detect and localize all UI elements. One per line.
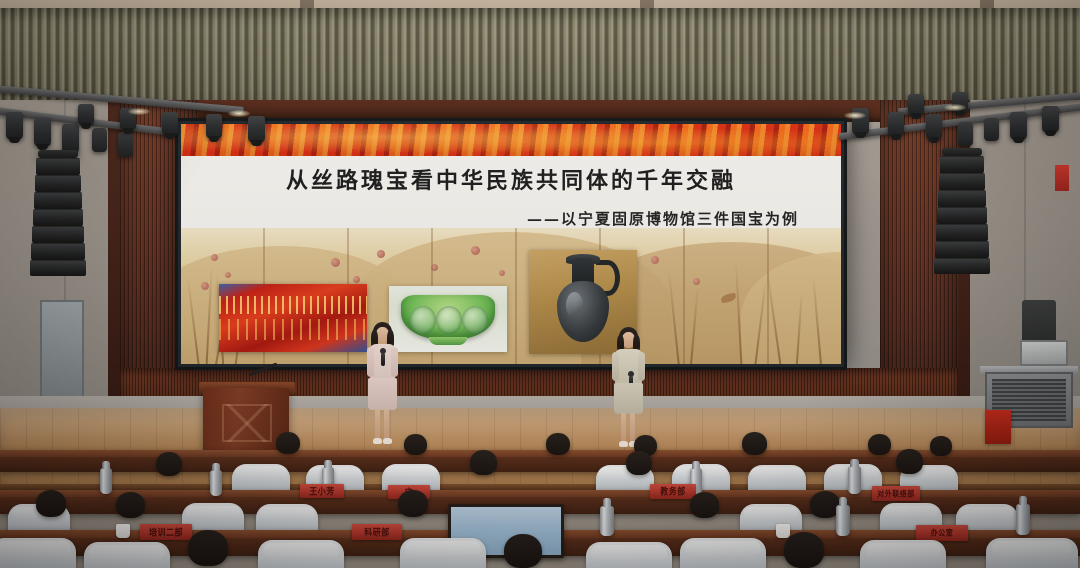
thermos-cap bbox=[102, 461, 110, 468]
moving-head-light bbox=[206, 114, 222, 139]
moving-head-light bbox=[1042, 106, 1059, 133]
moving-head-light bbox=[248, 116, 265, 143]
audience-head bbox=[156, 452, 182, 476]
audience-head bbox=[504, 534, 542, 568]
par-can-light bbox=[984, 118, 999, 141]
line-array-module bbox=[940, 156, 984, 173]
line-array-module bbox=[31, 243, 85, 260]
hvac-control-box bbox=[1020, 340, 1068, 366]
audience-row-4 bbox=[0, 532, 1080, 568]
bowl-boss bbox=[436, 306, 462, 334]
audience-head bbox=[690, 492, 719, 518]
line-array-module bbox=[934, 258, 990, 274]
auditorium-scene: 从丝路瑰宝看中华民族共同体的千年交融 ——以宁夏固原博物馆三件国宝为例 bbox=[0, 0, 1080, 568]
thermos-cap bbox=[603, 498, 612, 506]
thermos-cap bbox=[1019, 496, 1028, 505]
side-door-left[interactable] bbox=[40, 300, 84, 408]
par-can-light bbox=[958, 122, 973, 146]
line-array-module bbox=[36, 158, 80, 175]
moving-head-light bbox=[926, 114, 942, 140]
par-can-light bbox=[118, 132, 133, 157]
thermos-cap bbox=[839, 497, 848, 506]
slide-decorative-top-band bbox=[181, 124, 841, 156]
bowl-boss bbox=[462, 306, 488, 334]
artifact-painted-coffin-panel bbox=[219, 284, 367, 352]
led-screen: 从丝路瑰宝看中华民族共同体的千年交融 ——以宁夏固原博物馆三件国宝为例 bbox=[175, 118, 847, 370]
audience-head bbox=[188, 530, 228, 566]
audience-head bbox=[36, 490, 66, 517]
thermos-cap bbox=[850, 459, 858, 467]
presenter-arm bbox=[638, 352, 645, 381]
moving-head-light bbox=[908, 94, 924, 116]
audience-head bbox=[470, 450, 497, 475]
artifact-green-glass-bowl bbox=[389, 286, 507, 352]
moving-head-light bbox=[34, 118, 51, 147]
ewer-highlight bbox=[566, 292, 583, 319]
slide-title: 从丝路瑰宝看中华民族共同体的千年交融 bbox=[207, 168, 815, 196]
audience-chair bbox=[860, 540, 946, 568]
audience-chair bbox=[400, 538, 486, 568]
line-array-module bbox=[938, 190, 986, 207]
line-array-speaker-right bbox=[942, 148, 982, 156]
audience-chair bbox=[986, 538, 1078, 568]
exit-sign-icon bbox=[1055, 165, 1069, 191]
led-screen-surface: 从丝路瑰宝看中华民族共同体的千年交融 ——以宁夏固原博物馆三件国宝为例 bbox=[181, 124, 841, 364]
line-array-module bbox=[939, 173, 985, 190]
truss-lamp-glow bbox=[128, 108, 150, 115]
thermos-cap bbox=[212, 463, 220, 470]
line-array-module bbox=[936, 224, 988, 241]
audience-head bbox=[896, 449, 923, 474]
line-array-module bbox=[32, 226, 84, 243]
presenter-right bbox=[606, 327, 650, 449]
moving-head-light bbox=[888, 112, 904, 137]
line-array-module bbox=[35, 175, 81, 192]
presentation-slide: 从丝路瑰宝看中华民族共同体的千年交融 ——以宁夏固原博物馆三件国宝为例 bbox=[181, 124, 841, 364]
thermos-cap bbox=[324, 460, 332, 468]
audience-chair bbox=[84, 542, 170, 568]
thermos-cap bbox=[692, 461, 700, 469]
line-array-module bbox=[937, 207, 987, 224]
moving-head-light bbox=[1010, 112, 1027, 140]
slide-subtitle: ——以宁夏固原博物馆三件国宝为例 bbox=[207, 208, 815, 229]
presenter-arm bbox=[391, 347, 398, 377]
line-array-module bbox=[30, 260, 86, 276]
presenter-arm bbox=[367, 347, 374, 377]
line-array-module bbox=[935, 241, 989, 258]
slide-backdrop-artwork bbox=[181, 228, 841, 364]
audience-head bbox=[626, 451, 652, 475]
truss-lamp-glow bbox=[944, 104, 966, 111]
audience-chair bbox=[258, 540, 344, 568]
thermos-flask bbox=[1016, 504, 1030, 535]
presenter-skirt bbox=[614, 383, 643, 414]
moving-head-light bbox=[162, 112, 178, 136]
bowl-foot bbox=[429, 337, 467, 345]
moving-head-light bbox=[78, 104, 94, 126]
moving-head-light bbox=[6, 112, 23, 140]
audience-chair bbox=[0, 538, 76, 568]
presenter-skirt bbox=[368, 378, 397, 410]
presenter-arm bbox=[612, 352, 619, 381]
presenter-microphone bbox=[381, 353, 385, 366]
audience-head bbox=[398, 490, 428, 517]
line-array-speaker-left bbox=[38, 150, 78, 158]
audience-head bbox=[116, 492, 145, 518]
truss-lamp-glow bbox=[228, 110, 250, 117]
bowl-boss bbox=[410, 306, 436, 334]
slide-heading-block: 从丝路瑰宝看中华民族共同体的千年交融 ——以宁夏固原博物馆三件国宝为例 bbox=[181, 158, 841, 229]
audience-head bbox=[784, 532, 824, 568]
line-array-module bbox=[33, 209, 83, 226]
ewer-body bbox=[557, 281, 609, 341]
truss-lamp-glow bbox=[844, 112, 866, 119]
line-array-module bbox=[34, 192, 82, 209]
par-can-light bbox=[92, 128, 107, 152]
audience-chair bbox=[680, 538, 766, 568]
presenter-left bbox=[360, 322, 404, 448]
audience-chair bbox=[586, 542, 672, 568]
